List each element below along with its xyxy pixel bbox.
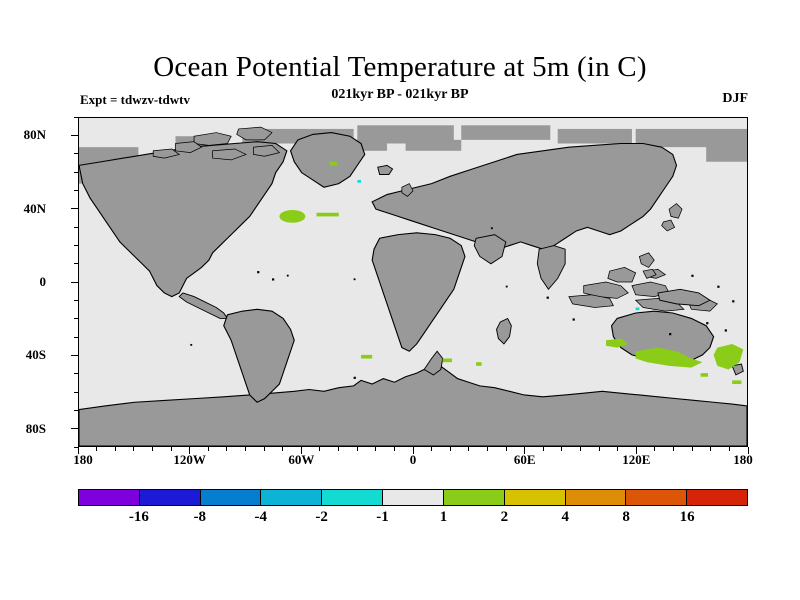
- x-tick: [506, 447, 507, 451]
- x-tick: [96, 447, 97, 451]
- colorbar-tick-label: -4: [254, 509, 267, 526]
- anomaly-south-indian: [443, 359, 452, 363]
- colorbar-swatch: [505, 490, 566, 505]
- y-tick-label: 40S: [26, 347, 46, 363]
- colorbar-tick-label: -8: [194, 509, 207, 526]
- colorbar-tick-label: -16: [129, 509, 149, 526]
- y-tick-label: 80S: [26, 421, 46, 437]
- y-tick-label: 40N: [24, 201, 46, 217]
- colorbar-swatch: [322, 490, 383, 505]
- colorbar-swatch: [79, 490, 140, 505]
- x-tick: [654, 447, 655, 451]
- y-tick-label: 0: [40, 274, 47, 290]
- x-tick: [319, 447, 320, 451]
- y-tick: [74, 245, 78, 246]
- x-tick: [673, 447, 674, 451]
- colorbar-swatch: [444, 490, 505, 505]
- anomaly-nw-atlantic: [317, 213, 339, 217]
- x-tick: [710, 447, 711, 451]
- colorbar-swatch: [566, 490, 627, 505]
- x-tick: [245, 447, 246, 451]
- x-tick: [394, 447, 395, 451]
- x-tick: [357, 447, 358, 451]
- x-tick: [264, 447, 265, 451]
- x-tick: [487, 447, 488, 451]
- colorbar-swatch: [383, 490, 444, 505]
- anomaly-indian-speck: [476, 362, 482, 366]
- colorbar-tick-label: 1: [440, 509, 448, 526]
- x-tick: [729, 447, 730, 451]
- colorbar-swatch: [201, 490, 262, 505]
- x-tick: [580, 447, 581, 451]
- y-tick: [74, 227, 78, 228]
- x-tick: [468, 447, 469, 451]
- x-tick: [152, 447, 153, 451]
- anomaly-sw-pacific: [701, 373, 708, 377]
- anomaly-labrador: [330, 162, 337, 166]
- x-tick: [617, 447, 618, 451]
- x-tick-label: 60W: [288, 452, 314, 468]
- y-tick: [74, 263, 78, 264]
- x-tick: [561, 447, 562, 451]
- x-tick: [208, 447, 209, 451]
- colorbar-swatch: [140, 490, 201, 505]
- y-tick-label: 80N: [24, 127, 46, 143]
- x-tick: [692, 447, 693, 451]
- x-tick: [282, 447, 283, 451]
- page-title: Ocean Potential Temperature at 5m (in C): [0, 51, 800, 84]
- colorbar-tick-label: 4: [562, 509, 570, 526]
- colorbar-tick-label: 8: [622, 509, 630, 526]
- figure-root: Ocean Potential Temperature at 5m (in C)…: [0, 0, 800, 600]
- x-tick: [450, 447, 451, 451]
- x-tick: [599, 447, 600, 451]
- y-tick: [74, 318, 78, 319]
- y-tick: [71, 208, 78, 209]
- y-tick: [74, 117, 78, 118]
- y-tick: [74, 300, 78, 301]
- colorbar-tick-label: 2: [501, 509, 509, 526]
- x-tick: [133, 447, 134, 451]
- y-tick: [74, 410, 78, 411]
- anomaly-south-pacific: [732, 380, 741, 384]
- x-tick-label: 0: [410, 452, 417, 468]
- y-tick: [71, 428, 78, 429]
- y-tick: [74, 392, 78, 393]
- colorbar-tick-label: 16: [680, 509, 695, 526]
- y-tick: [74, 190, 78, 191]
- x-tick-label: 180: [733, 452, 753, 468]
- colorbar-swatch: [261, 490, 322, 505]
- x-tick: [375, 447, 376, 451]
- colorbar-swatch: [687, 490, 747, 505]
- x-tick: [115, 447, 116, 451]
- y-tick: [71, 282, 78, 283]
- x-tick: [431, 447, 432, 451]
- y-tick: [74, 153, 78, 154]
- x-tick-label: 120E: [622, 452, 650, 468]
- y-tick: [71, 355, 78, 356]
- x-tick: [226, 447, 227, 451]
- x-tick-label: 180: [73, 452, 93, 468]
- colorbar-tick-label: -1: [376, 509, 389, 526]
- x-tick-label: 60E: [514, 452, 536, 468]
- x-tick: [338, 447, 339, 451]
- x-tick-label: 120W: [173, 452, 206, 468]
- colorbar: [78, 489, 748, 506]
- y-tick: [74, 337, 78, 338]
- season-label: DJF: [722, 91, 748, 107]
- experiment-label: Expt = tdwzv-tdwtv: [80, 92, 190, 108]
- colorbar-swatch: [626, 490, 687, 505]
- anomaly-gulf-stream: [279, 210, 305, 223]
- y-tick: [74, 172, 78, 173]
- anomaly-south-atlantic: [361, 355, 372, 359]
- x-tick: [543, 447, 544, 451]
- y-tick: [74, 373, 78, 374]
- map-plot-area: [78, 117, 748, 447]
- x-tick: [171, 447, 172, 451]
- y-tick: [71, 135, 78, 136]
- colorbar-tick-label: -2: [315, 509, 328, 526]
- world-map: [79, 118, 747, 446]
